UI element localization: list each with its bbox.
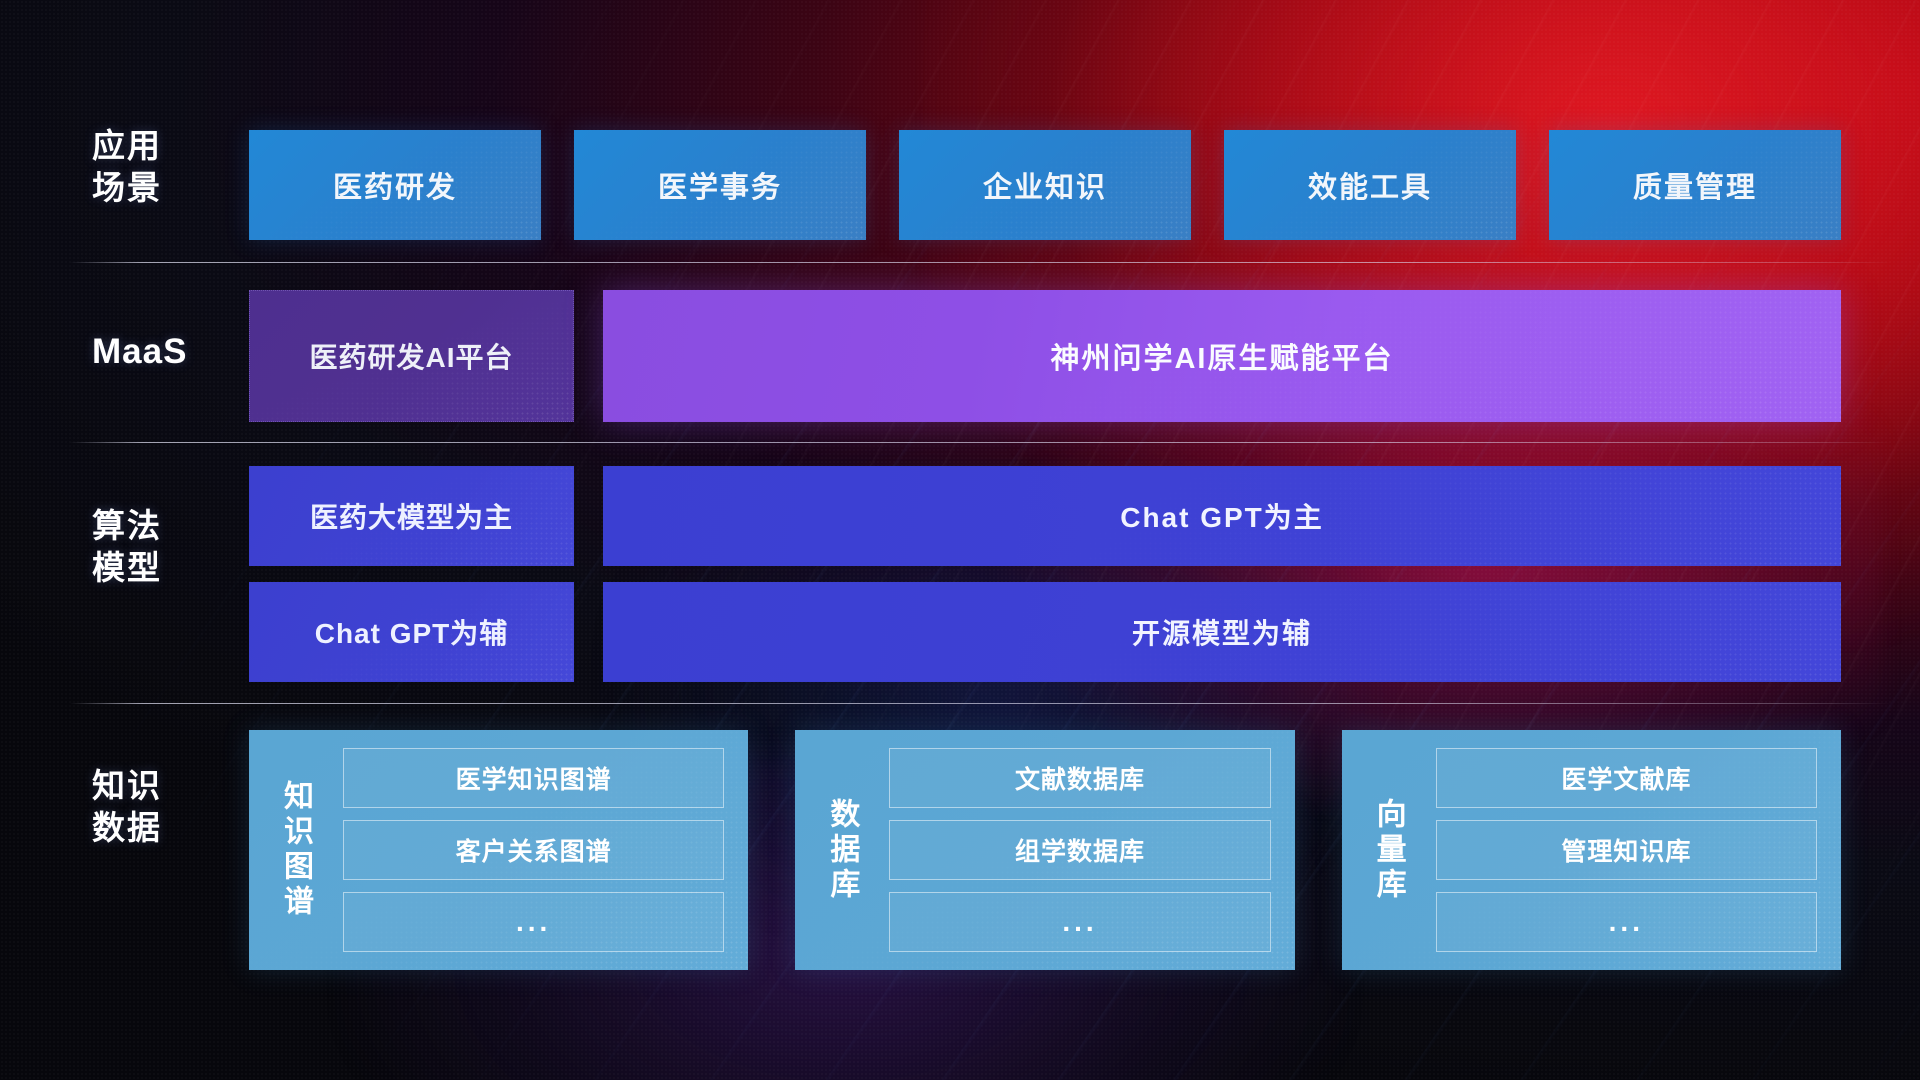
knowledge-group-title: 知识图谱 bbox=[263, 744, 327, 956]
app-card-label: 医学事务 bbox=[658, 164, 782, 206]
knowledge-group-knowledge-graph[interactable]: 知识图谱 医学知识图谱 客户关系图谱 ... bbox=[249, 730, 748, 970]
row-divider-3 bbox=[70, 703, 1892, 704]
algorithm-model-row: 医药大模型为主 Chat GPT为主 Chat GPT为辅 开源模型为辅 bbox=[249, 466, 1841, 686]
algo-card-opensource-secondary[interactable]: 开源模型为辅 bbox=[603, 582, 1841, 682]
knowledge-group-items: 医学文献库 管理知识库 ... bbox=[1420, 744, 1823, 956]
app-card-label: 企业知识 bbox=[983, 164, 1107, 206]
app-card-medical-affairs[interactable]: 医学事务 bbox=[574, 130, 866, 240]
knowledge-item[interactable]: 文献数据库 bbox=[889, 748, 1270, 808]
knowledge-item-more[interactable]: ... bbox=[343, 892, 724, 952]
algo-card-chatgpt-secondary[interactable]: Chat GPT为辅 bbox=[249, 582, 574, 682]
knowledge-item[interactable]: 医学文献库 bbox=[1436, 748, 1817, 808]
algorithm-line-secondary: Chat GPT为辅 开源模型为辅 bbox=[249, 582, 1841, 682]
maas-card-drug-rd-ai-platform[interactable]: 医药研发AI平台 bbox=[249, 290, 574, 422]
app-card-label: 效能工具 bbox=[1308, 164, 1432, 206]
algo-card-label: Chat GPT为主 bbox=[1120, 496, 1324, 536]
maas-card-label: 医药研发AI平台 bbox=[309, 336, 513, 376]
app-card-drug-rd[interactable]: 医药研发 bbox=[249, 130, 541, 240]
knowledge-item[interactable]: 医学知识图谱 bbox=[343, 748, 724, 808]
knowledge-item[interactable]: 客户关系图谱 bbox=[343, 820, 724, 880]
maas-card-shenzhou-wenxue-platform[interactable]: 神州问学AI原生赋能平台 bbox=[603, 290, 1841, 422]
row-label-algorithm-model: 算法模型 bbox=[92, 505, 242, 589]
maas-card-label: 神州问学AI原生赋能平台 bbox=[1050, 335, 1393, 377]
knowledge-group-title: 向量库 bbox=[1356, 744, 1420, 956]
knowledge-group-database[interactable]: 数据库 文献数据库 组学数据库 ... bbox=[795, 730, 1294, 970]
knowledge-group-items: 医学知识图谱 客户关系图谱 ... bbox=[327, 744, 730, 956]
app-card-label: 医药研发 bbox=[333, 164, 457, 206]
application-scenario-row: 医药研发 医学事务 企业知识 效能工具 质量管理 bbox=[249, 130, 1841, 240]
app-card-efficiency-tools[interactable]: 效能工具 bbox=[1224, 130, 1516, 240]
algo-card-label: 开源模型为辅 bbox=[1132, 612, 1312, 652]
knowledge-item-more[interactable]: ... bbox=[1436, 892, 1817, 952]
algo-card-chatgpt-primary[interactable]: Chat GPT为主 bbox=[603, 466, 1841, 566]
app-card-quality-management[interactable]: 质量管理 bbox=[1549, 130, 1841, 240]
algo-card-pharma-llm-primary[interactable]: 医药大模型为主 bbox=[249, 466, 574, 566]
knowledge-item-more[interactable]: ... bbox=[889, 892, 1270, 952]
knowledge-group-items: 文献数据库 组学数据库 ... bbox=[873, 744, 1276, 956]
app-card-enterprise-knowledge[interactable]: 企业知识 bbox=[899, 130, 1191, 240]
algo-card-label: 医药大模型为主 bbox=[310, 496, 513, 536]
knowledge-item[interactable]: 管理知识库 bbox=[1436, 820, 1817, 880]
row-label-knowledge-data: 知识数据 bbox=[92, 765, 242, 849]
row-label-maas: MaaS bbox=[92, 330, 242, 375]
maas-row: 医药研发AI平台 神州问学AI原生赋能平台 bbox=[249, 290, 1841, 422]
row-divider-2 bbox=[70, 442, 1892, 443]
row-label-application: 应用场景 bbox=[92, 125, 242, 209]
knowledge-group-title: 数据库 bbox=[809, 744, 873, 956]
row-divider-1 bbox=[70, 262, 1892, 263]
knowledge-data-row: 知识图谱 医学知识图谱 客户关系图谱 ... 数据库 文献数据库 组学数据库 .… bbox=[249, 730, 1841, 970]
app-card-label: 质量管理 bbox=[1633, 164, 1757, 206]
algo-card-label: Chat GPT为辅 bbox=[315, 612, 509, 652]
knowledge-group-vector-store[interactable]: 向量库 医学文献库 管理知识库 ... bbox=[1342, 730, 1841, 970]
slide-canvas: 应用场景 医药研发 医学事务 企业知识 效能工具 质量管理 MaaS 医药研发A… bbox=[0, 0, 1920, 1080]
algorithm-line-primary: 医药大模型为主 Chat GPT为主 bbox=[249, 466, 1841, 566]
knowledge-item[interactable]: 组学数据库 bbox=[889, 820, 1270, 880]
